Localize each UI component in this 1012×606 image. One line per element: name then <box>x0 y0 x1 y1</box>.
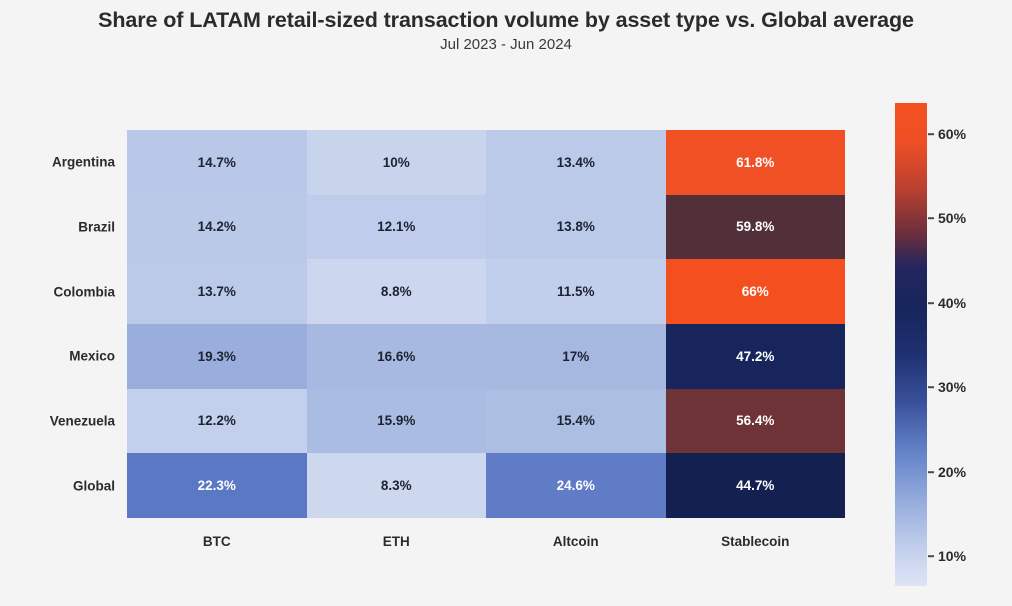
heatmap-cell[interactable]: 59.8% <box>666 195 846 260</box>
heatmap-cell-value: 16.6% <box>377 349 415 364</box>
heatmap-cell-value: 24.6% <box>557 478 595 493</box>
colorbar-tick-label: 20% <box>927 464 966 480</box>
y-axis-tick-label: Venezuela <box>3 414 115 429</box>
heatmap-cell-value: 12.2% <box>198 413 236 428</box>
heatmap-cell[interactable]: 12.2% <box>127 389 307 454</box>
heatmap-cell[interactable]: 14.2% <box>127 195 307 260</box>
y-axis-tick-label: Global <box>3 478 115 493</box>
heatmap-row: 13.7%8.8%11.5%66% <box>127 259 845 324</box>
heatmap-cell-value: 22.3% <box>198 478 236 493</box>
heatmap-cell[interactable]: 16.6% <box>307 324 487 389</box>
heatmap-cell-value: 19.3% <box>198 349 236 364</box>
colorbar-tick-label: 50% <box>927 210 966 226</box>
heatmap-cell-value: 8.3% <box>381 478 412 493</box>
x-axis-tick-label: BTC <box>127 524 307 558</box>
heatmap-grid: 14.7%10%13.4%61.8%14.2%12.1%13.8%59.8%13… <box>127 130 845 518</box>
heatmap-cell-value: 61.8% <box>736 155 774 170</box>
heatmap-cell-value: 13.7% <box>198 284 236 299</box>
heatmap-cell-value: 17% <box>562 349 589 364</box>
chart-title: Share of LATAM retail-sized transaction … <box>0 8 1012 33</box>
heatmap-cell-value: 11.5% <box>557 284 595 299</box>
colorbar-tick-label: 30% <box>927 379 966 395</box>
heatmap-cell[interactable]: 17% <box>486 324 666 389</box>
heatmap-cell[interactable]: 8.8% <box>307 259 487 324</box>
x-axis-tick-label: Altcoin <box>486 524 666 558</box>
heatmap-row: 14.2%12.1%13.8%59.8% <box>127 195 845 260</box>
heatmap-cell[interactable]: 61.8% <box>666 130 846 195</box>
heatmap-cell[interactable]: 19.3% <box>127 324 307 389</box>
heatmap-cell-value: 47.2% <box>736 349 774 364</box>
heatmap-cell-value: 14.7% <box>198 155 236 170</box>
x-axis-tick-label: Stablecoin <box>666 524 846 558</box>
heatmap-row: 19.3%16.6%17%47.2% <box>127 324 845 389</box>
heatmap-cell-value: 15.4% <box>557 413 595 428</box>
heatmap-cell-value: 10% <box>383 155 410 170</box>
heatmap-cell-value: 59.8% <box>736 219 774 234</box>
y-axis-labels: ArgentinaBrazilColombiaMexicoVenezuelaGl… <box>0 130 115 518</box>
heatmap-cell-value: 56.4% <box>736 413 774 428</box>
heatmap-row: 14.7%10%13.4%61.8% <box>127 130 845 195</box>
heatmap-cell-value: 8.8% <box>381 284 412 299</box>
heatmap-cell[interactable]: 8.3% <box>307 453 487 518</box>
colorbar: 60%50%40%30%20%10% <box>895 103 927 586</box>
heatmap-cell[interactable]: 13.7% <box>127 259 307 324</box>
chart-subtitle: Jul 2023 - Jun 2024 <box>0 36 1012 53</box>
heatmap-chart: Share of LATAM retail-sized transaction … <box>0 0 1012 606</box>
heatmap-cell[interactable]: 44.7% <box>666 453 846 518</box>
heatmap-cell-value: 66% <box>742 284 769 299</box>
heatmap-cell-value: 12.1% <box>377 219 415 234</box>
heatmap-row: 12.2%15.9%15.4%56.4% <box>127 389 845 454</box>
heatmap-cell[interactable]: 13.4% <box>486 130 666 195</box>
heatmap-cell-value: 44.7% <box>736 478 774 493</box>
heatmap-cell[interactable]: 15.4% <box>486 389 666 454</box>
heatmap-cell[interactable]: 13.8% <box>486 195 666 260</box>
heatmap-cell-value: 13.8% <box>557 219 595 234</box>
colorbar-gradient <box>895 103 927 586</box>
x-axis-tick-label: ETH <box>307 524 487 558</box>
y-axis-tick-label: Colombia <box>3 284 115 299</box>
heatmap-cell-value: 15.9% <box>377 413 415 428</box>
heatmap-cell-value: 13.4% <box>557 155 595 170</box>
y-axis-tick-label: Argentina <box>3 155 115 170</box>
heatmap-cell[interactable]: 15.9% <box>307 389 487 454</box>
heatmap-cell[interactable]: 24.6% <box>486 453 666 518</box>
colorbar-tick-label: 40% <box>927 295 966 311</box>
y-axis-tick-label: Brazil <box>3 220 115 235</box>
heatmap-cell[interactable]: 56.4% <box>666 389 846 454</box>
heatmap-cell-value: 14.2% <box>198 219 236 234</box>
heatmap-cell[interactable]: 12.1% <box>307 195 487 260</box>
colorbar-tick-label: 60% <box>927 126 966 142</box>
heatmap-row: 22.3%8.3%24.6%44.7% <box>127 453 845 518</box>
heatmap-cell[interactable]: 14.7% <box>127 130 307 195</box>
heatmap-cell[interactable]: 47.2% <box>666 324 846 389</box>
x-axis-labels: BTCETHAltcoinStablecoin <box>127 524 845 558</box>
heatmap-cell[interactable]: 22.3% <box>127 453 307 518</box>
heatmap-cell[interactable]: 66% <box>666 259 846 324</box>
colorbar-tick-label: 10% <box>927 548 966 564</box>
heatmap-cell[interactable]: 11.5% <box>486 259 666 324</box>
y-axis-tick-label: Mexico <box>3 349 115 364</box>
heatmap-cell[interactable]: 10% <box>307 130 487 195</box>
